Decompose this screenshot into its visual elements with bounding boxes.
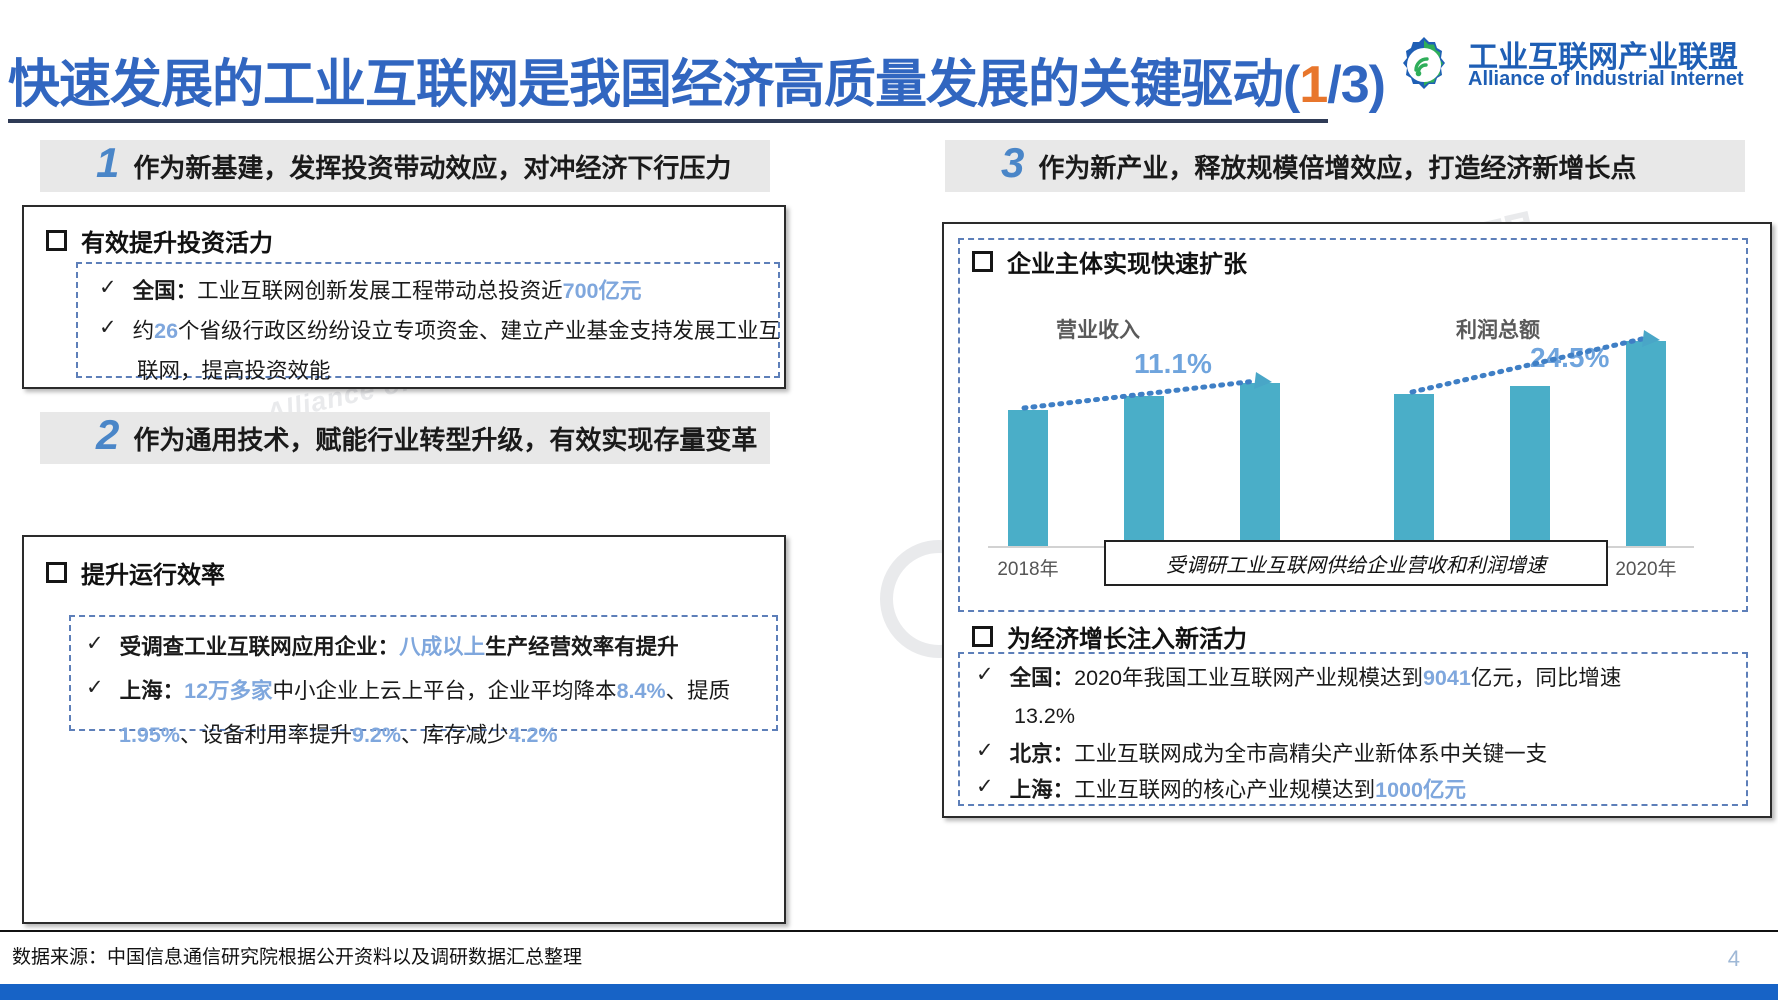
card4-heading: 为经济增长注入新活力 bbox=[1007, 619, 1247, 654]
title-underline bbox=[8, 119, 1328, 123]
card4-bullet-2-body: 工业互联网成为全市高精尖产业新体系中关键一支 bbox=[1074, 742, 1547, 766]
card2-bullet-2-mid: 中小企业上云上平台，企业平均降本 bbox=[273, 679, 617, 703]
card4-bullet-3-highlight: 1000亿元 bbox=[1375, 778, 1466, 802]
card1-bullet-1-label: 全国： bbox=[133, 279, 198, 303]
card4-bullet-1-highlight: 9041 bbox=[1423, 666, 1471, 690]
chart-caption-text: 受调研工业互联网供给企业营收和利润增速 bbox=[1166, 549, 1546, 578]
card1-bullet-2-pre: 约 bbox=[133, 319, 155, 343]
chart-xlabel-revenue-2018: 2018年 bbox=[986, 554, 1070, 581]
section-band-2: 2 作为通用技术，赋能行业转型升级，有效实现存量变革 bbox=[40, 412, 770, 464]
section-number-1: 1 bbox=[96, 142, 119, 190]
card2-bullet-2-cont: 1.95%、设备利用率提升9.2%、库存减少4.2% bbox=[119, 719, 558, 751]
card4-bullet-2-label: 北京： bbox=[1010, 742, 1075, 766]
logo: 工业互联网产业联盟 Alliance of Industrial Interne… bbox=[1392, 32, 1774, 100]
section-heading-1: 作为新基建，发挥投资带动效应，对冲经济下行压力 bbox=[133, 148, 731, 185]
card2-bullet-2-hi1: 12万多家 bbox=[184, 679, 272, 703]
card3-heading-row: 企业主体实现快速扩张 bbox=[972, 244, 1247, 279]
footer-divider bbox=[0, 930, 1778, 932]
section-heading-3: 作为新产业，释放规模倍增效应，打造经济新增长点 bbox=[1038, 148, 1636, 185]
card1-bullet-2-text: 约26个省级行政区纷纷设立专项资金、建立产业基金支持发展工业互 bbox=[133, 315, 780, 347]
card4-bullet-1-line2: 13.2% bbox=[1014, 700, 1075, 732]
chart-trend-revenue bbox=[964, 286, 1344, 556]
card2-bullet-2-hi2: 8.4% bbox=[617, 679, 666, 703]
card1-bullet-1-text: 全国：工业互联网创新发展工程带动总投资近700亿元 bbox=[133, 275, 642, 307]
page-title-index: 1 bbox=[1299, 56, 1327, 114]
card2-bullet-1-highlight: 八成以上 bbox=[399, 635, 485, 659]
card2-heading-row: 提升运行效率 bbox=[46, 555, 225, 590]
card2-bullet-2-label: 上海： bbox=[120, 679, 185, 703]
card2-bullet-2-text: 上海：12万多家中小企业上云上平台，企业平均降本8.4%、提质 bbox=[120, 675, 730, 707]
card4-bullet-3-text: 上海：工业互联网的核心产业规模达到1000亿元 bbox=[1010, 774, 1466, 806]
check-icon: ✓ bbox=[99, 315, 117, 341]
card-investment: 有效提升投资活力 ✓ 全国：工业互联网创新发展工程带动总投资近700亿元 ✓ 约… bbox=[22, 205, 786, 389]
revenue-profit-bar-chart: 营业收入 11.1% 2018年 2019年 2020年 利润总额 24.5% bbox=[964, 286, 1744, 576]
chart-xlabel-profit-2020: 2020年 bbox=[1604, 554, 1688, 581]
card2-heading: 提升运行效率 bbox=[81, 555, 225, 590]
chart-trend-profit bbox=[1364, 286, 1694, 556]
footer-source: 数据来源：中国信息通信研究院根据公开资料以及调研数据汇总整理 bbox=[12, 942, 582, 969]
section-band-3: 3 作为新产业，释放规模倍增效应，打造经济新增长点 bbox=[945, 140, 1745, 192]
card2-bullet-1-text: 受调查工业互联网应用企业：八成以上生产经营效率有提升 bbox=[120, 631, 679, 663]
card4-bullet-3: ✓ 上海：工业互联网的核心产业规模达到1000亿元 bbox=[976, 774, 1466, 806]
bullet-square-icon bbox=[46, 230, 67, 251]
card-industry-growth: 企业主体实现快速扩张 营业收入 11.1% 2018年 2019年 2020年 … bbox=[942, 222, 1772, 818]
bullet-square-icon bbox=[46, 562, 67, 583]
check-icon: ✓ bbox=[976, 774, 994, 800]
card2-bullet-2-post: 、提质 bbox=[666, 679, 731, 703]
card1-bullet-2-line2: 联网，提高投资效能 bbox=[137, 355, 331, 387]
section-number-3: 3 bbox=[1001, 142, 1024, 190]
footer-accent-bar bbox=[0, 984, 1778, 1000]
card2-bullet-2: ✓ 上海：12万多家中小企业上云上平台，企业平均降本8.4%、提质 bbox=[86, 675, 730, 707]
section-number-2: 2 bbox=[96, 414, 119, 462]
card2-bullet-1: ✓ 受调查工业互联网应用企业：八成以上生产经营效率有提升 bbox=[86, 631, 679, 663]
card1-bullet-1-highlight: 700亿元 bbox=[563, 279, 642, 303]
card1-bullet-1: ✓ 全国：工业互联网创新发展工程带动总投资近700亿元 bbox=[99, 275, 642, 307]
card1-bullet-1-body: 工业互联网创新发展工程带动总投资近 bbox=[197, 279, 563, 303]
card1-heading: 有效提升投资活力 bbox=[81, 223, 273, 258]
card1-bullet-2: ✓ 约26个省级行政区纷纷设立专项资金、建立产业基金支持发展工业互 bbox=[99, 315, 780, 347]
card4-bullet-1-text: 全国：2020年我国工业互联网产业规模达到9041亿元，同比增速 bbox=[1010, 662, 1622, 694]
card4-bullet-3-body: 工业互联网的核心产业规模达到 bbox=[1074, 778, 1375, 802]
card2-bullet-3-hi1: 1.95% bbox=[119, 723, 180, 747]
card2-bullet-3-hi3: 4.2% bbox=[509, 723, 558, 747]
card4-bullet-1-label: 全国： bbox=[1010, 666, 1075, 690]
gear-wifi-icon bbox=[1392, 34, 1456, 98]
page-title-total: /3) bbox=[1327, 56, 1385, 114]
card1-bullet-2-post: 个省级行政区纷纷设立专项资金、建立产业基金支持发展工业互 bbox=[178, 319, 780, 343]
card2-bullet-3-text: 1.95%、设备利用率提升9.2%、库存减少4.2% bbox=[119, 719, 558, 751]
card2-bullet-3-mid: 、设备利用率提升 bbox=[180, 723, 352, 747]
bullet-square-icon bbox=[972, 251, 993, 272]
card2-bullet-1-post: 生产经营效率有提升 bbox=[485, 635, 679, 659]
check-icon: ✓ bbox=[976, 738, 994, 764]
section-band-1: 1 作为新基建，发挥投资带动效应，对冲经济下行压力 bbox=[40, 140, 770, 192]
card2-bullet-1-label: 受调查工业互联网应用企业： bbox=[120, 635, 400, 659]
card4-bullet-3-label: 上海： bbox=[1010, 778, 1075, 802]
card4-bullet-1-cont: 13.2% bbox=[1014, 700, 1075, 732]
page-number: 4 bbox=[1728, 946, 1740, 972]
card4-bullet-2: ✓ 北京：工业互联网成为全市高精尖产业新体系中关键一支 bbox=[976, 738, 1547, 770]
card4-heading-row: 为经济增长注入新活力 bbox=[972, 619, 1247, 654]
check-icon: ✓ bbox=[976, 662, 994, 688]
check-icon: ✓ bbox=[99, 275, 117, 301]
card2-bullet-3-hi2: 9.2% bbox=[352, 723, 401, 747]
card1-heading-row: 有效提升投资活力 bbox=[46, 223, 273, 258]
slide-root: 工业互联网产业联盟 Alliance of Industrial Interne… bbox=[0, 0, 1778, 1000]
card2-bullet-3-mid2: 、库存减少 bbox=[401, 723, 509, 747]
logo-en-text: Alliance of Industrial Internet bbox=[1468, 68, 1744, 91]
chart-caption-box: 受调研工业互联网供给企业营收和利润增速 bbox=[1104, 540, 1608, 586]
check-icon: ✓ bbox=[86, 675, 104, 701]
section-heading-2: 作为通用技术，赋能行业转型升级，有效实现存量变革 bbox=[133, 420, 757, 457]
card4-bullet-2-text: 北京：工业互联网成为全市高精尖产业新体系中关键一支 bbox=[1010, 738, 1548, 770]
check-icon: ✓ bbox=[86, 631, 104, 657]
card4-bullet-1-body: 2020年我国工业互联网产业规模达到 bbox=[1074, 666, 1423, 690]
card1-bullet-2-highlight: 26 bbox=[154, 319, 178, 343]
page-title-main: 快速发展的工业互联网是我国经济高质量发展的关键驱动( bbox=[8, 56, 1299, 114]
card4-bullet-1: ✓ 全国：2020年我国工业互联网产业规模达到9041亿元，同比增速 bbox=[976, 662, 1621, 694]
card4-bullet-1-post: 亿元，同比增速 bbox=[1471, 666, 1622, 690]
page-title: 快速发展的工业互联网是我国经济高质量发展的关键驱动(1/3) bbox=[8, 42, 1385, 117]
card-efficiency: 提升运行效率 ✓ 受调查工业互联网应用企业：八成以上生产经营效率有提升 ✓ 上海… bbox=[22, 535, 786, 924]
card1-bullet-2-cont: 联网，提高投资效能 bbox=[137, 355, 331, 387]
bullet-square-icon bbox=[972, 626, 993, 647]
card3-heading: 企业主体实现快速扩张 bbox=[1007, 244, 1247, 279]
